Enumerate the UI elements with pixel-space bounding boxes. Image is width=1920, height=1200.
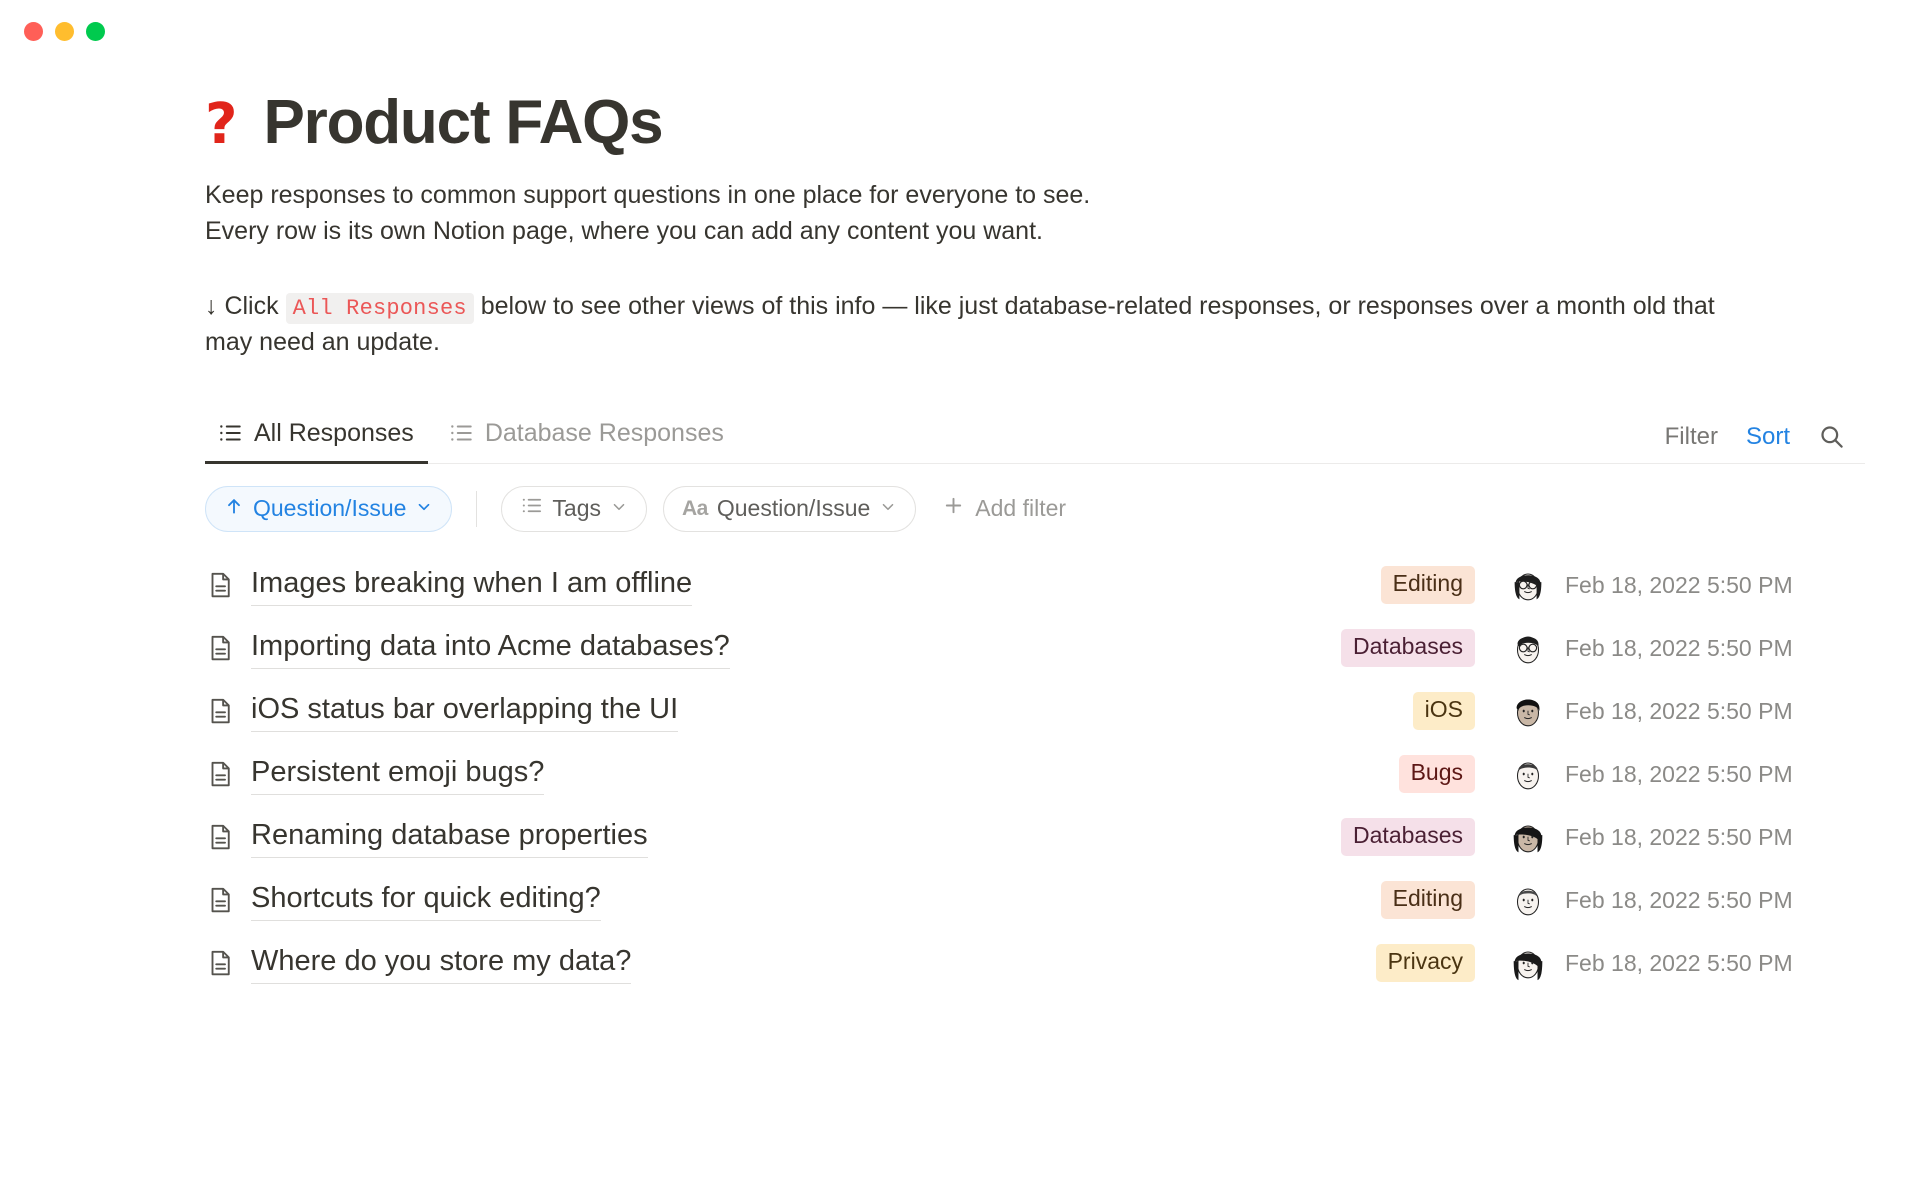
row-title[interactable]: Importing data into Acme databases? [251, 628, 730, 669]
page-icon [205, 948, 235, 978]
row-date: Feb 18, 2022 5:50 PM [1565, 761, 1865, 788]
row-title[interactable]: Renaming database properties [251, 817, 648, 858]
row-main[interactable]: iOS status bar overlapping the UI [205, 691, 1255, 732]
row-date: Feb 18, 2022 5:50 PM [1565, 887, 1865, 914]
tag-cell: Databases [1255, 818, 1491, 856]
row-properties: EditingFeb 18, 2022 5:50 PM [1255, 564, 1865, 606]
add-filter-button[interactable]: Add filter [932, 494, 1076, 523]
avatar [1507, 690, 1549, 732]
table-row[interactable]: Images breaking when I am offlineEditing… [205, 554, 1865, 617]
avatar [1507, 627, 1549, 669]
row-properties: DatabasesFeb 18, 2022 5:50 PM [1255, 627, 1865, 669]
row-title[interactable]: iOS status bar overlapping the UI [251, 691, 678, 732]
row-main[interactable]: Importing data into Acme databases? [205, 628, 1255, 669]
zoom-button[interactable] [86, 22, 105, 41]
page-header: ? Product FAQs [205, 90, 1865, 155]
row-date: Feb 18, 2022 5:50 PM [1565, 572, 1865, 599]
row-title[interactable]: Where do you store my data? [251, 943, 631, 984]
avatar [1507, 879, 1549, 921]
row-date: Feb 18, 2022 5:50 PM [1565, 698, 1865, 725]
row-title[interactable]: Images breaking when I am offline [251, 565, 692, 606]
callout-prefix: ↓ Click [205, 292, 279, 320]
description-callout: ↓ Click All Responses below to see other… [205, 288, 1725, 361]
chip-divider [476, 491, 477, 527]
inline-code-all-responses[interactable]: All Responses [286, 293, 474, 324]
row-main[interactable]: Shortcuts for quick editing? [205, 880, 1255, 921]
question-mark-icon: ? [205, 97, 237, 153]
page-icon [205, 633, 235, 663]
row-properties: DatabasesFeb 18, 2022 5:50 PM [1255, 816, 1865, 858]
table-row[interactable]: Where do you store my data?PrivacyFeb 18… [205, 932, 1865, 995]
tag-cell: Editing [1255, 881, 1491, 919]
view-actions: Filter Sort [1665, 423, 1865, 463]
text-property-icon: Aa [682, 497, 708, 521]
status-badge[interactable]: Databases [1341, 818, 1475, 856]
table-row[interactable]: Importing data into Acme databases?Datab… [205, 617, 1865, 680]
status-badge[interactable]: Editing [1381, 566, 1475, 604]
tab-database-responses[interactable]: Database Responses [436, 413, 738, 464]
status-badge[interactable]: Bugs [1399, 755, 1475, 793]
row-main[interactable]: Renaming database properties [205, 817, 1255, 858]
row-properties: iOSFeb 18, 2022 5:50 PM [1255, 690, 1865, 732]
tab-label: All Responses [254, 419, 414, 448]
sort-button[interactable]: Sort [1746, 423, 1790, 451]
page-description: Keep responses to common support questio… [205, 177, 1725, 361]
page-icon [205, 885, 235, 915]
avatar [1507, 942, 1549, 984]
search-icon[interactable] [1818, 423, 1845, 450]
page-title[interactable]: Product FAQs [263, 90, 662, 155]
description-line-2: Every row is its own Notion page, where … [205, 213, 1725, 249]
filter-chip-tags[interactable]: Tags [501, 486, 647, 532]
chevron-down-icon [610, 495, 628, 522]
avatar [1507, 816, 1549, 858]
description-line-1: Keep responses to common support questio… [205, 177, 1725, 213]
minimize-button[interactable] [55, 22, 74, 41]
row-date: Feb 18, 2022 5:50 PM [1565, 635, 1865, 662]
tab-label: Database Responses [485, 419, 724, 448]
sort-chip-label: Question/Issue [253, 495, 406, 522]
status-badge[interactable]: Privacy [1376, 944, 1475, 982]
list-icon [448, 420, 474, 446]
tab-all-responses[interactable]: All Responses [205, 413, 428, 464]
description-spacer [205, 250, 1725, 288]
row-main[interactable]: Images breaking when I am offline [205, 565, 1255, 606]
row-date: Feb 18, 2022 5:50 PM [1565, 950, 1865, 977]
tag-cell: iOS [1255, 692, 1491, 730]
page-icon [205, 822, 235, 852]
table-row[interactable]: Persistent emoji bugs?BugsFeb 18, 2022 5… [205, 743, 1865, 806]
avatar-cell [1491, 942, 1565, 984]
filter-chip-label: Question/Issue [717, 495, 870, 522]
chevron-down-icon [879, 495, 897, 522]
avatar [1507, 564, 1549, 606]
tag-cell: Editing [1255, 566, 1491, 604]
database-list: Images breaking when I am offlineEditing… [205, 554, 1865, 995]
avatar-cell [1491, 690, 1565, 732]
arrow-up-icon [224, 495, 244, 522]
database-view-bar: All Responses Database Responses [205, 413, 1865, 464]
avatar [1507, 753, 1549, 795]
tag-cell: Privacy [1255, 944, 1491, 982]
status-badge[interactable]: iOS [1413, 692, 1475, 730]
window-titlebar [0, 0, 1920, 62]
row-properties: PrivacyFeb 18, 2022 5:50 PM [1255, 942, 1865, 984]
table-row[interactable]: iOS status bar overlapping the UIiOSFeb … [205, 680, 1865, 743]
tag-cell: Bugs [1255, 755, 1491, 793]
add-filter-label: Add filter [975, 495, 1066, 522]
filter-chip-question-issue[interactable]: Aa Question/Issue [663, 486, 916, 532]
view-tabs: All Responses Database Responses [205, 413, 738, 463]
status-badge[interactable]: Editing [1381, 881, 1475, 919]
row-properties: BugsFeb 18, 2022 5:50 PM [1255, 753, 1865, 795]
filter-chip-label: Tags [552, 495, 601, 522]
table-row[interactable]: Shortcuts for quick editing?EditingFeb 1… [205, 869, 1865, 932]
filter-button[interactable]: Filter [1665, 423, 1718, 451]
row-title[interactable]: Persistent emoji bugs? [251, 754, 544, 795]
chevron-down-icon [415, 495, 433, 522]
avatar-cell [1491, 627, 1565, 669]
page-body: ? Product FAQs Keep responses to common … [0, 62, 1920, 995]
page-icon [205, 570, 235, 600]
row-title[interactable]: Shortcuts for quick editing? [251, 880, 601, 921]
row-main[interactable]: Where do you store my data? [205, 943, 1255, 984]
table-row[interactable]: Renaming database propertiesDatabasesFeb… [205, 806, 1865, 869]
tag-cell: Databases [1255, 629, 1491, 667]
page-icon [205, 696, 235, 726]
list-icon [217, 420, 243, 446]
filter-chip-bar: Question/Issue Tags [205, 486, 1865, 532]
avatar-cell [1491, 816, 1565, 858]
row-date: Feb 18, 2022 5:50 PM [1565, 824, 1865, 851]
list-icon [520, 494, 543, 523]
row-main[interactable]: Persistent emoji bugs? [205, 754, 1255, 795]
avatar-cell [1491, 753, 1565, 795]
page-icon [205, 759, 235, 789]
sort-chip-question-issue[interactable]: Question/Issue [205, 486, 452, 532]
avatar-cell [1491, 564, 1565, 606]
status-badge[interactable]: Databases [1341, 629, 1475, 667]
plus-icon [942, 494, 965, 523]
traffic-lights [24, 22, 105, 41]
close-button[interactable] [24, 22, 43, 41]
avatar-cell [1491, 879, 1565, 921]
row-properties: EditingFeb 18, 2022 5:50 PM [1255, 879, 1865, 921]
